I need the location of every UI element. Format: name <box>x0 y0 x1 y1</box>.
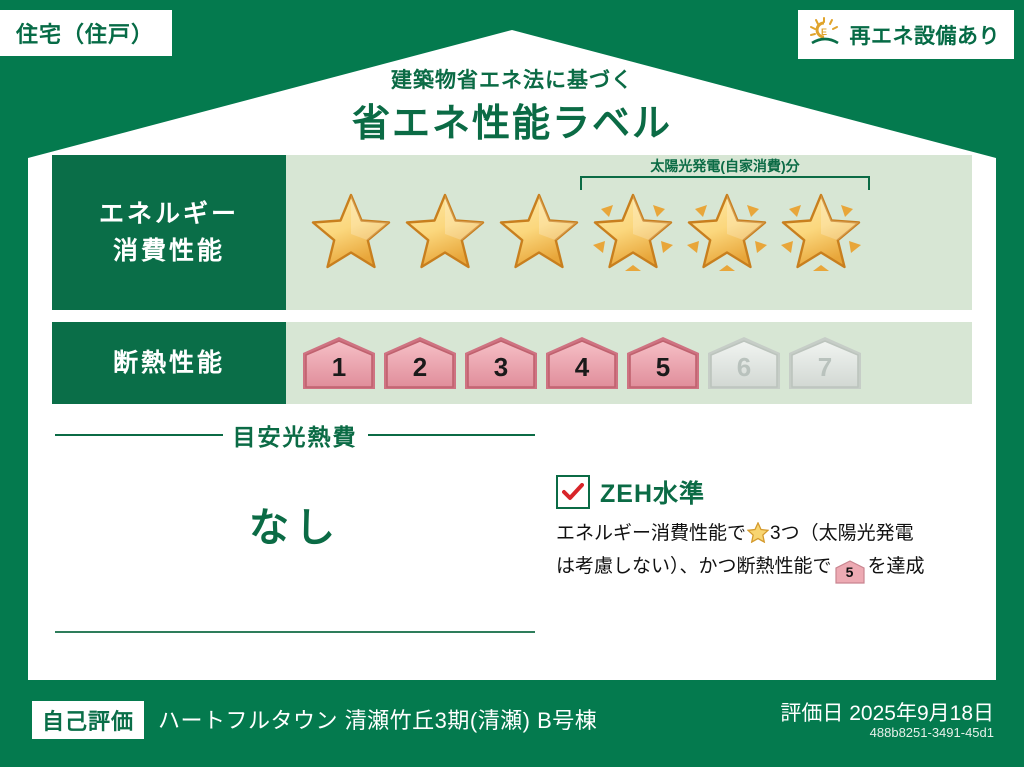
insulation-level-value: 6 <box>737 352 751 391</box>
insulation-level-badge: 5 <box>624 335 702 391</box>
self-evaluation-tag: 自己評価 <box>32 701 144 739</box>
renewable-badge-label: 再エネ設備あり <box>850 20 1001 50</box>
insulation-performance-row: 断熱性能 1 <box>52 322 972 404</box>
zeh-desc-part2: は考慮しない）、かつ断熱性能で <box>556 556 832 577</box>
utility-cost-rule-right <box>368 434 536 436</box>
energy-row-label: エネルギー 消費性能 <box>52 155 286 310</box>
insulation-level-value: 5 <box>656 352 670 391</box>
insulation-level-badge: 7 <box>786 335 864 391</box>
renewable-energy-badge: E 再エネ設備あり <box>796 8 1017 61</box>
solar-annotation-label: 太陽光発電(自家消費)分 <box>580 159 870 174</box>
star-icon <box>492 185 586 281</box>
evaluation-date: 評価日 2025年9月18日 <box>780 697 994 727</box>
svg-text:E: E <box>820 27 826 37</box>
evaluation-id: 488b8251-3491-45d1 <box>870 725 994 740</box>
zeh-title-row: ZEH水準 <box>556 474 976 510</box>
utility-cost-bottom-rule <box>55 631 535 633</box>
zeh-title: ZEH水準 <box>600 474 705 510</box>
zeh-desc-part1: エネルギー消費性能で <box>556 523 746 544</box>
insulation-level-value: 1 <box>332 352 346 391</box>
check-icon <box>562 483 584 501</box>
insulation-level-value: 4 <box>575 352 589 391</box>
insulation-level-value: 2 <box>413 352 427 391</box>
insulation-level-value: 3 <box>494 352 508 391</box>
star-icon <box>774 185 868 281</box>
star-icon <box>586 185 680 281</box>
insulation-level-value: 7 <box>818 352 832 391</box>
utility-cost-value: なし <box>55 495 535 553</box>
label-subtitle: 建築物省エネ法に基づく <box>0 64 1024 94</box>
insulation-level-badge: 6 <box>705 335 783 391</box>
insulation-level-badge: 2 <box>381 335 459 391</box>
zeh-checkbox[interactable] <box>556 475 590 509</box>
energy-row-label-line1: エネルギー <box>99 196 239 232</box>
inline-house-level: 5 <box>835 560 865 584</box>
insulation-level-badge: 4 <box>543 335 621 391</box>
insulation-level-badge: 3 <box>462 335 540 391</box>
label-footer: 自己評価 ハートフルタウン 清瀬竹丘3期(清瀬) B号棟 評価日 2025年9月… <box>0 687 1024 767</box>
building-name: ハートフルタウン 清瀬竹丘3期(清瀬) B号棟 <box>158 703 597 735</box>
energy-performance-row: エネルギー 消費性能 太陽光発電(自家消費)分 <box>52 155 972 310</box>
solar-annotation: 太陽光発電(自家消費)分 <box>580 159 870 190</box>
energy-row-label-line2: 消費性能 <box>99 233 239 269</box>
energy-performance-label: 住宅（住戸） E 再エネ設備あり 建築物省エネ法に基づく 省エネ性能ラベル <box>0 0 1024 767</box>
insulation-level-scale: 1 2 <box>286 322 972 404</box>
insulation-level-badge: 1 <box>300 335 378 391</box>
star-icon <box>680 185 774 281</box>
zeh-desc-part3: を達成 <box>868 556 925 577</box>
energy-row-body: 太陽光発電(自家消費)分 <box>286 155 972 310</box>
insulation-row-body: 1 2 <box>286 322 972 404</box>
zeh-standard-block: ZEH水準 エネルギー消費性能で3つ（太陽光発電は考慮しない）、かつ断熱性能で5… <box>556 474 976 582</box>
star-icon <box>304 185 398 281</box>
utility-cost-rule-left <box>55 434 223 436</box>
category-tag: 住宅（住戸） <box>0 8 174 58</box>
star-icon <box>398 185 492 281</box>
inline-star-icon <box>747 522 769 552</box>
utility-cost-header: 目安光熱費 <box>55 420 535 450</box>
solar-annotation-bracket <box>580 176 870 190</box>
sun-icon: E <box>808 16 842 53</box>
zeh-desc-star-count: 3つ（太陽光発電 <box>770 523 914 544</box>
inline-house-badge: 5 <box>835 560 865 582</box>
zeh-description: エネルギー消費性能で3つ（太陽光発電は考慮しない）、かつ断熱性能で5を達成 <box>556 519 976 582</box>
insulation-row-label: 断熱性能 <box>52 322 286 404</box>
utility-cost-title: 目安光熱費 <box>233 418 358 452</box>
label-title: 省エネ性能ラベル <box>0 92 1024 147</box>
